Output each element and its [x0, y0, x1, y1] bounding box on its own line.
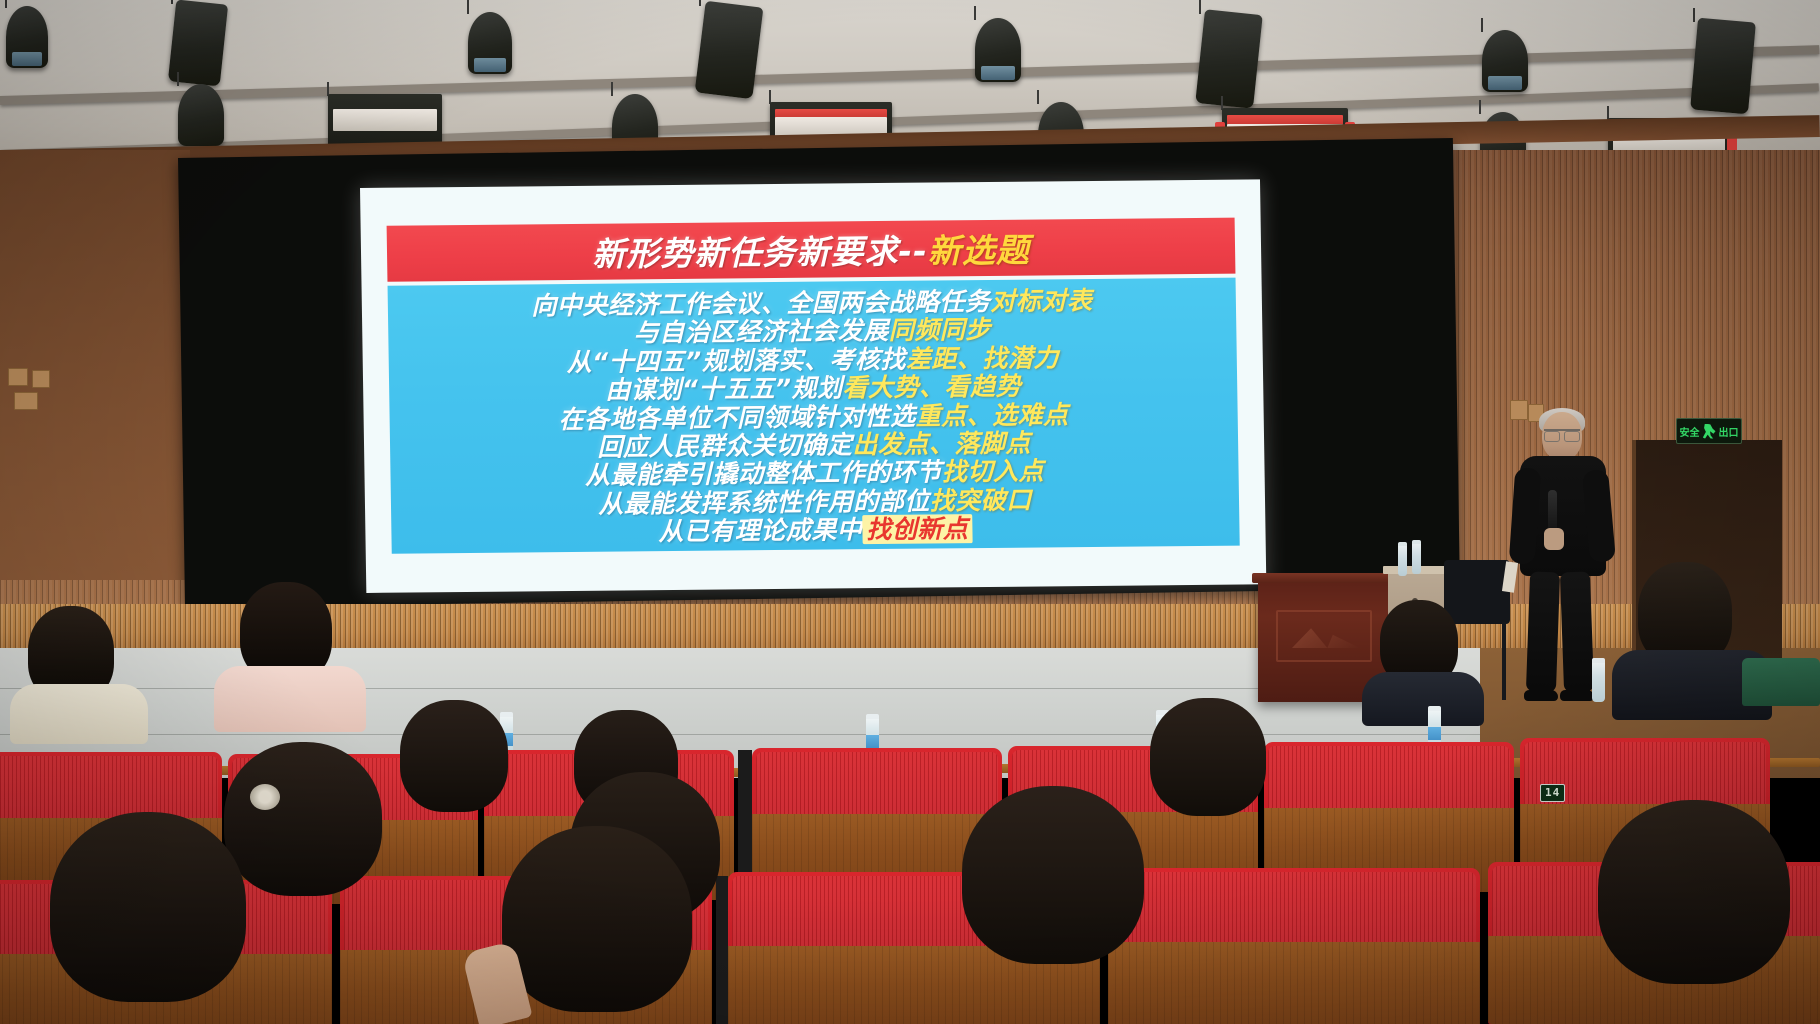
slide-title-dash: -- [898, 232, 928, 271]
wall-left-panel [0, 150, 190, 580]
audience-member [10, 606, 140, 726]
slide-line-text: 由谋划“十五五”规划 [605, 374, 843, 405]
slide-title-main: 新形势新任务新要求 [592, 232, 899, 274]
slide-line-highlight: 同频同步 [889, 315, 991, 345]
slide-line-9: 从已有理论成果中找创新点 [401, 514, 1229, 548]
slide-line-text: 从最能发挥系统性作用的部位 [598, 486, 930, 518]
slide-line-text: 从最能牵引撬动整体工作的环节 [585, 458, 942, 490]
slide-line-text: 与自治区经济社会发展 [634, 316, 889, 347]
exit-sign-icon: 安全 出口 [1676, 418, 1742, 444]
slide-line-highlight-box: 找创新点 [862, 514, 972, 544]
slide-line-highlight: 差距、找潜力 [906, 343, 1059, 373]
audience-member [1362, 600, 1482, 720]
slide-line-highlight: 出发点、落脚点 [852, 428, 1031, 459]
hair-clip [250, 784, 280, 810]
lecture-hall-screenshot: 新形势新任务新要求--新选题 向中央经济工作会议、全国两会战略任务对标对表 与自… [0, 0, 1820, 1024]
audience-member [40, 812, 270, 1024]
exit-sign-right-text: 出口 [1719, 424, 1739, 439]
exit-sign-left-text: 安全 [1680, 424, 1700, 439]
wall-outlet-plate [14, 392, 38, 410]
speaker-shoe [1560, 690, 1594, 701]
speaker-notes-paper [1502, 561, 1518, 592]
slide-line-text: 从“十四五”规划落实、考核找 [566, 345, 906, 377]
slide-title-banner: 新形势新任务新要求--新选题 [387, 218, 1236, 282]
speaker-hand [1544, 528, 1564, 550]
slide-title: 新形势新任务新要求--新选题 [592, 224, 1030, 276]
wall-switch-plate [32, 370, 50, 388]
wall-switch-plate [8, 368, 28, 386]
audience-member [218, 582, 358, 722]
slide-title-accent: 新选题 [927, 231, 1030, 271]
slide-body-panel: 向中央经济工作会议、全国两会战略任务对标对表 与自治区经济社会发展同频同步 从“… [388, 278, 1240, 554]
projected-slide: 新形势新任务新要求--新选题 向中央经济工作会议、全国两会战略任务对标对表 与自… [360, 179, 1266, 593]
slide-line-highlight: 看大势、看趋势 [842, 372, 1021, 403]
water-bottle [1398, 542, 1407, 576]
running-person-icon [1703, 424, 1716, 439]
slide-line-text: 在各地各单位不同领域针对性选 [558, 401, 915, 433]
water-bottle [1412, 540, 1421, 574]
green-bag [1742, 658, 1820, 706]
audience-member [1588, 800, 1814, 1010]
glasses-icon [1544, 429, 1580, 438]
water-bottle [1592, 658, 1605, 702]
slide-line-highlight: 找突破口 [930, 485, 1032, 515]
audience-member [952, 786, 1168, 986]
audience-member [1612, 562, 1762, 712]
slide-line-text: 回应人民群众关切确定 [597, 430, 852, 461]
slide-line-highlight: 找切入点 [942, 457, 1044, 487]
speaker-legs [1528, 572, 1598, 698]
slide-line-highlight: 对标对表 [990, 286, 1092, 316]
slide-line-highlight: 重点、选难点 [915, 400, 1068, 430]
seat-number-plaque: 14 [1540, 784, 1565, 802]
speaker-shoe [1524, 690, 1558, 701]
slide-line-text: 从已有理论成果中 [658, 515, 862, 546]
